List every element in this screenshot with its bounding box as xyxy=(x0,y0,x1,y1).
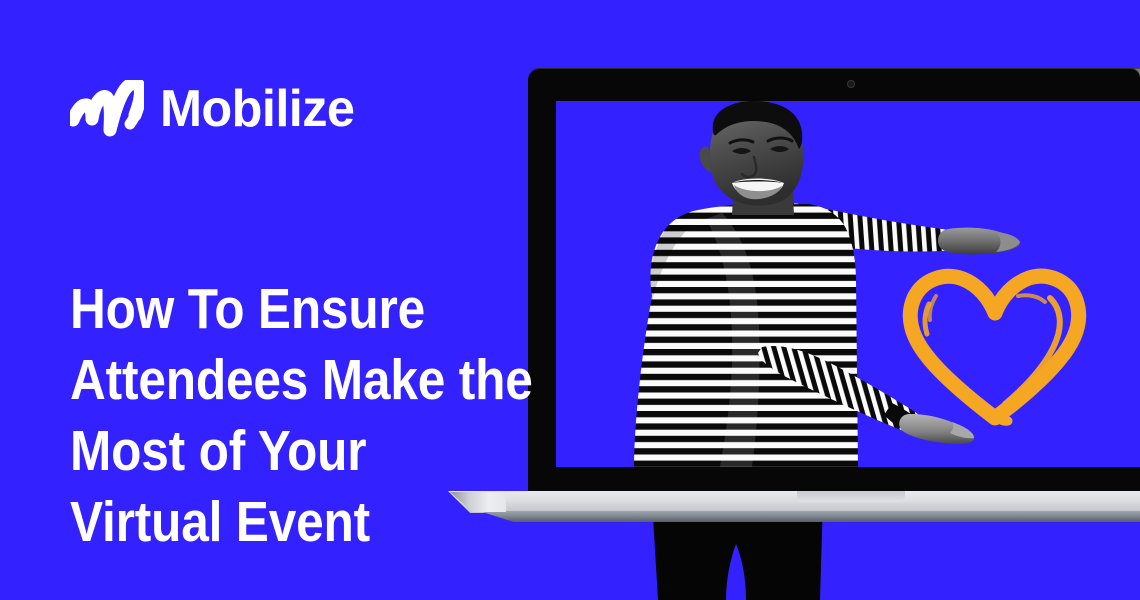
headline-line-3: Most of Your xyxy=(70,416,462,487)
brand-lockup[interactable]: Mobilize xyxy=(70,76,360,142)
mobilize-wave-mark-icon xyxy=(70,80,144,138)
webcam-dot-icon xyxy=(848,81,854,87)
brand-name: Mobilize xyxy=(160,83,354,135)
laptop-base xyxy=(448,491,1140,513)
head xyxy=(699,101,803,215)
laptop-base-underside xyxy=(448,511,1140,522)
promo-banner: Mobilize How To Ensure Attendees Make th… xyxy=(0,0,1140,600)
striped-shirt-torso xyxy=(616,196,876,467)
text-column: Mobilize How To Ensure Attendees Make th… xyxy=(0,0,530,600)
headline-line-4: Virtual Event xyxy=(70,487,462,558)
page-title: How To Ensure Attendees Make the Most of… xyxy=(70,274,462,558)
hand-drawn-heart xyxy=(900,260,1090,428)
headline-line-2: Attendees Make the xyxy=(70,345,462,416)
laptop-base-notch xyxy=(797,491,905,502)
headline-line-1: How To Ensure xyxy=(70,274,462,345)
laptop-screen xyxy=(556,101,1140,467)
